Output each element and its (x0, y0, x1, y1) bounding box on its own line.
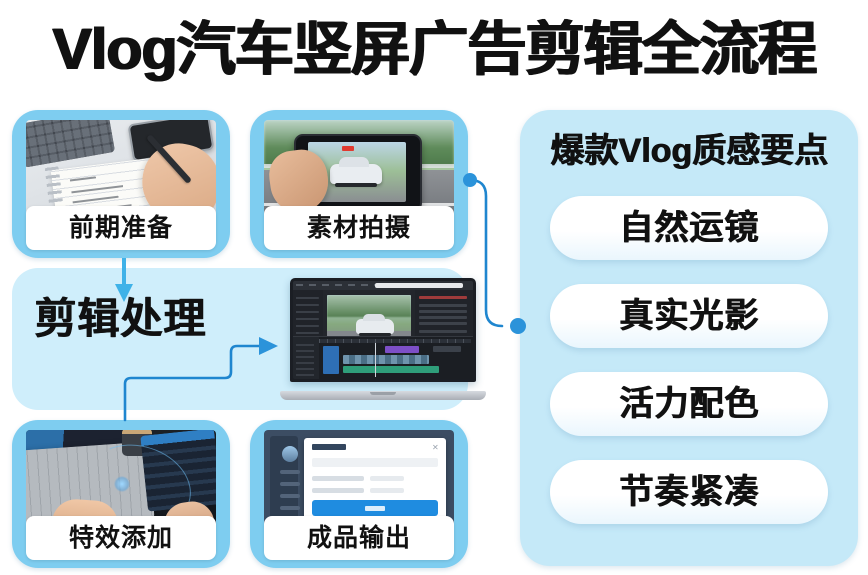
timeline-clip-gray (433, 346, 461, 352)
page-title: Vlog汽车竖屏广告剪辑全流程 (52, 21, 816, 79)
car-on-screen (330, 164, 382, 184)
preview-car (356, 319, 394, 334)
glow-dot-effect (114, 476, 130, 492)
page-header: Vlog汽车竖屏广告剪辑全流程 (0, 0, 868, 100)
editing-stage-label: 剪辑处理 (34, 298, 206, 340)
dialog-title (312, 444, 346, 450)
timeline-clip-purple (385, 346, 419, 353)
laptop-base (280, 391, 486, 400)
step-card-export[interactable]: ✕ 成品输出 (250, 420, 468, 568)
step-label-effects: 特效添加 (26, 516, 216, 560)
tip-pill-tight-rhythm[interactable]: 节奏紧凑 (550, 460, 828, 524)
editor-timeline (293, 336, 473, 379)
timeline-track-headers (293, 337, 319, 379)
video-editor-ui (293, 281, 473, 379)
step-label-text: 特效添加 (69, 526, 173, 551)
dialog-input-field[interactable] (312, 458, 438, 467)
dialog-submit-button[interactable] (312, 500, 438, 516)
editor-search-bar (375, 283, 463, 288)
step-card-shooting[interactable]: 素材拍摄 (250, 110, 468, 258)
avatar (282, 446, 298, 462)
tip-pill-label: 自然运镜 (619, 211, 759, 245)
step-card-effects[interactable]: 特效添加 (12, 420, 230, 568)
editor-menubar (293, 281, 473, 290)
quality-tips-panel: 爆款Vlog质感要点 自然运镜 真实光影 活力配色 节奏紧凑 (520, 110, 858, 566)
editor-effects-panel (415, 290, 473, 337)
editor-media-panel (293, 290, 323, 337)
step-label-text: 素材拍摄 (307, 216, 411, 241)
editing-stage-panel: 剪辑处理 (12, 268, 468, 410)
tip-pill-label: 真实光影 (619, 299, 759, 333)
record-indicator-icon (342, 146, 354, 151)
step-label-shooting: 素材拍摄 (264, 206, 454, 250)
export-dialog: ✕ (304, 438, 446, 524)
quality-tips-title: 爆款Vlog质感要点 (520, 134, 858, 168)
tip-pill-label: 活力配色 (619, 387, 759, 421)
step-label-export: 成品输出 (264, 516, 454, 560)
timeline-playhead (375, 343, 376, 377)
tip-pill-real-lighting[interactable]: 真实光影 (550, 284, 828, 348)
tip-pill-vivid-color[interactable]: 活力配色 (550, 372, 828, 436)
timeline-clip-audio (343, 366, 439, 373)
timeline-clip-blue (323, 346, 339, 374)
laptop-notch (370, 392, 396, 395)
workflow-column: 剪辑处理 (10, 108, 482, 568)
step-label-text: 前期准备 (69, 216, 173, 241)
dialog-app-sidebar (270, 436, 298, 526)
laptop-lid (290, 278, 476, 382)
timeline-ruler (319, 339, 471, 343)
laptop-video-editor-mockup (280, 278, 486, 400)
step-label-preparation: 前期准备 (26, 206, 216, 250)
step-card-preparation[interactable]: 前期准备 (12, 110, 230, 258)
tip-pill-label: 节奏紧凑 (619, 475, 759, 509)
step-label-text: 成品输出 (307, 526, 411, 551)
close-icon[interactable]: ✕ (432, 444, 439, 451)
tip-pill-natural-camera-movement[interactable]: 自然运镜 (550, 196, 828, 260)
timeline-clip-video (343, 355, 429, 364)
